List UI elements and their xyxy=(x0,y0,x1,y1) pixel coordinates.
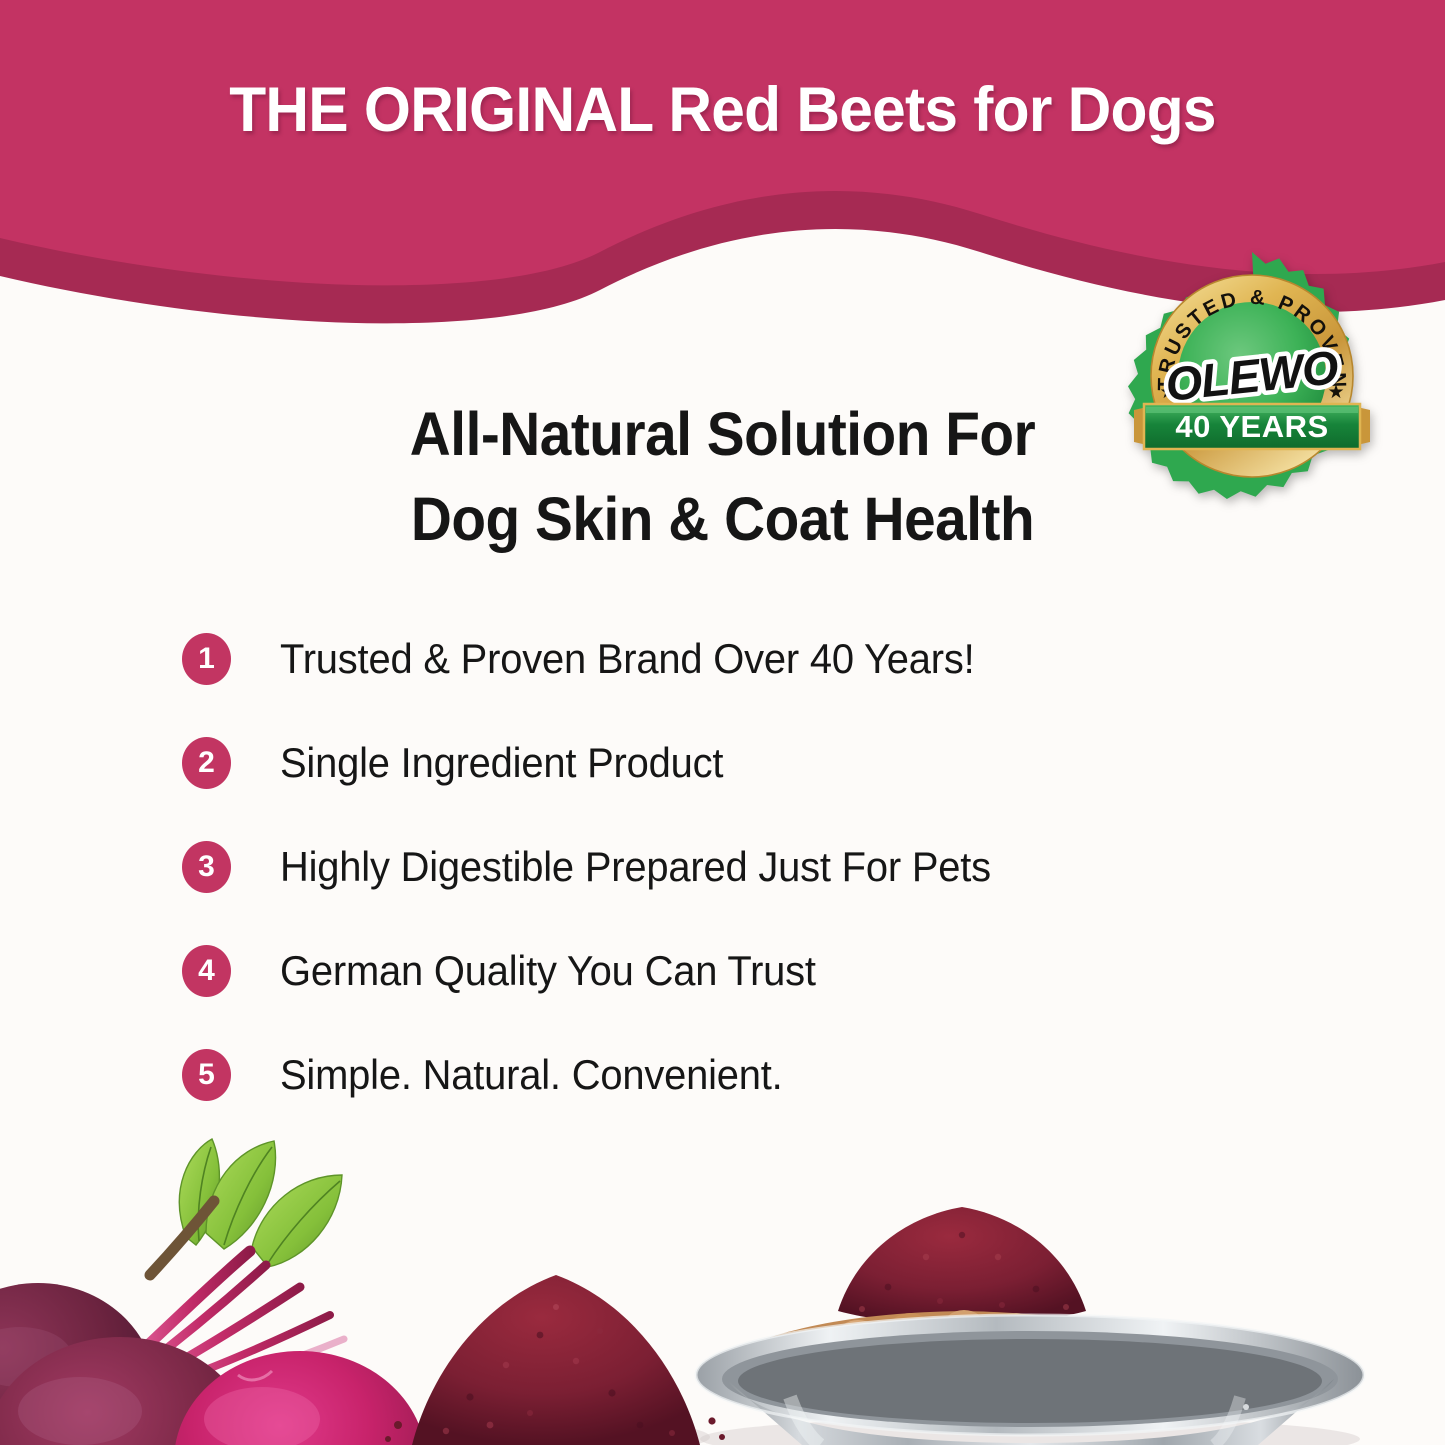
benefit-number-badge: 4 xyxy=(182,945,231,997)
benefit-label: German Quality You Can Trust xyxy=(280,947,816,995)
headline: All-Natural Solution For Dog Skin & Coat… xyxy=(51,392,1395,562)
list-item: 3 Highly Digestible Prepared Just For Pe… xyxy=(182,840,1342,894)
benefit-label: Highly Digestible Prepared Just For Pets xyxy=(280,843,991,891)
headline-line-1: All-Natural Solution For xyxy=(51,392,1395,477)
benefit-label: Single Ingredient Product xyxy=(280,739,723,787)
dog-bowl-with-food xyxy=(696,1207,1364,1445)
page-title: THE ORIGINAL Red Beets for Dogs xyxy=(29,74,1416,146)
benefit-number-badge: 3 xyxy=(182,841,231,893)
product-photo-strip xyxy=(0,1125,1445,1445)
benefit-number-badge: 5 xyxy=(182,1049,231,1101)
list-item: 2 Single Ingredient Product xyxy=(182,736,1342,790)
headline-line-2: Dog Skin & Coat Health xyxy=(51,477,1395,562)
list-item: 5 Simple. Natural. Convenient. xyxy=(182,1048,1342,1102)
beet-flake-topping xyxy=(838,1207,1086,1325)
benefit-label: Simple. Natural. Convenient. xyxy=(280,1051,783,1099)
benefit-number-badge: 2 xyxy=(182,737,231,789)
beet-granules-pile xyxy=(385,1275,725,1445)
list-item: 4 German Quality You Can Trust xyxy=(182,944,1342,998)
benefit-label: Trusted & Proven Brand Over 40 Years! xyxy=(280,635,975,683)
fresh-beets-image xyxy=(0,1139,426,1445)
benefit-number-badge: 1 xyxy=(182,633,231,685)
benefits-list: 1 Trusted & Proven Brand Over 40 Years! … xyxy=(182,632,1342,1102)
list-item: 1 Trusted & Proven Brand Over 40 Years! xyxy=(182,632,1342,686)
